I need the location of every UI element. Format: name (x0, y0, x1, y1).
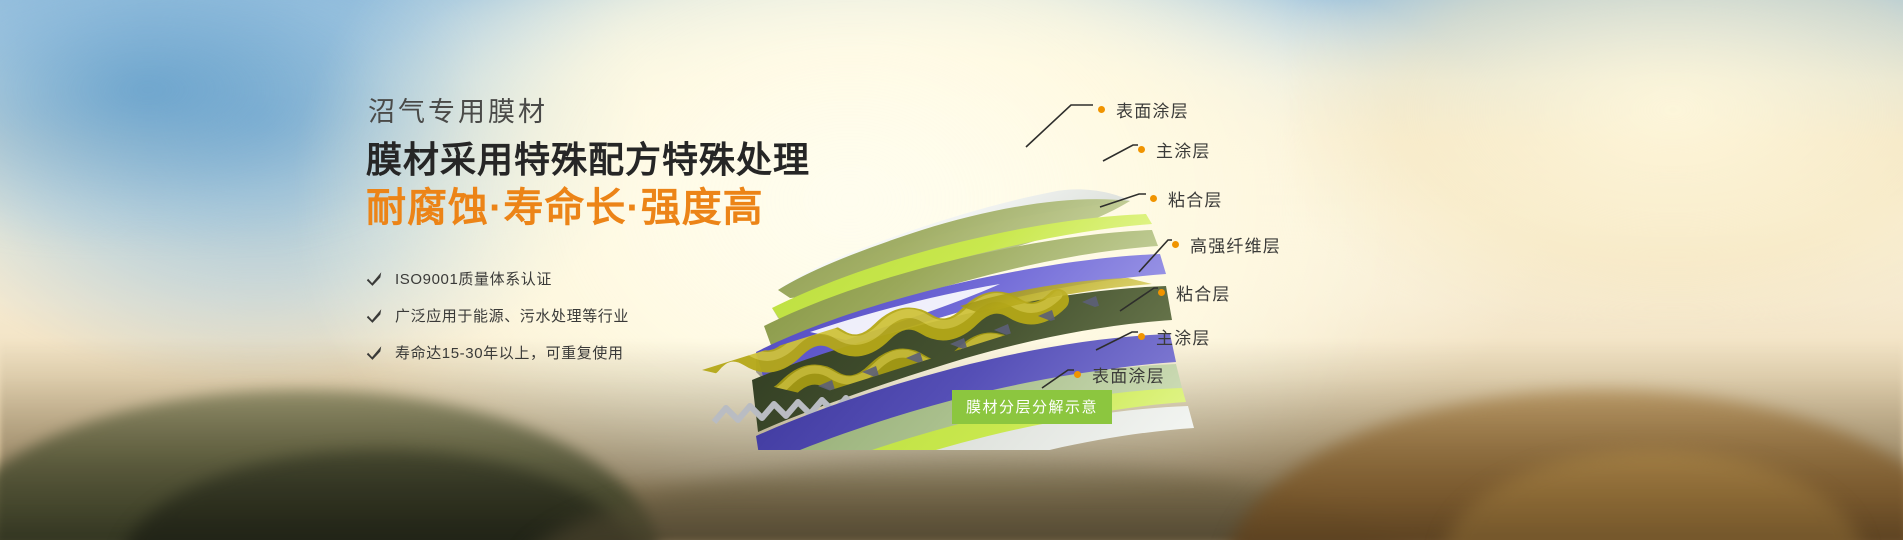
callout-7: 表面涂层 (1074, 362, 1165, 387)
dot-marker-icon (1138, 333, 1145, 340)
callout-label-text: 主涂层 (1156, 324, 1211, 349)
list-item-label: 广泛应用于能源、污水处理等行业 (395, 305, 629, 326)
list-item-label: ISO9001质量体系认证 (395, 268, 552, 289)
callout-label-text: 粘合层 (1176, 280, 1231, 305)
callout-3: 粘合层 (1150, 186, 1223, 211)
callout-1: 表面涂层 (1098, 97, 1189, 122)
callout-5: 粘合层 (1158, 280, 1231, 305)
background-glow-right (1293, 0, 1903, 320)
callout-6: 主涂层 (1138, 324, 1211, 349)
callout-2: 主涂层 (1138, 137, 1211, 162)
callout-label-text: 主涂层 (1156, 137, 1211, 162)
check-icon (366, 307, 383, 324)
callout-label-text: 表面涂层 (1092, 362, 1165, 387)
diagram-caption-badge: 膜材分层分解示意 (952, 390, 1112, 424)
check-icon (366, 270, 383, 287)
callout-4: 高强纤维层 (1172, 232, 1281, 257)
dot-marker-icon (1074, 371, 1081, 378)
dot-marker-icon (1150, 195, 1157, 202)
dot-marker-icon (1098, 106, 1105, 113)
callout-label-text: 表面涂层 (1116, 97, 1189, 122)
callout-label-text: 粘合层 (1168, 186, 1223, 211)
hero-banner: 沼气专用膜材 膜材采用特殊配方特殊处理 耐腐蚀·寿命长·强度高 ISO9001质… (0, 0, 1903, 540)
callout-label-text: 高强纤维层 (1190, 232, 1281, 257)
list-item-label: 寿命达15-30年以上，可重复使用 (395, 342, 624, 363)
dot-marker-icon (1158, 289, 1165, 296)
dot-marker-icon (1138, 146, 1145, 153)
check-icon (366, 344, 383, 361)
dot-marker-icon (1172, 241, 1179, 248)
